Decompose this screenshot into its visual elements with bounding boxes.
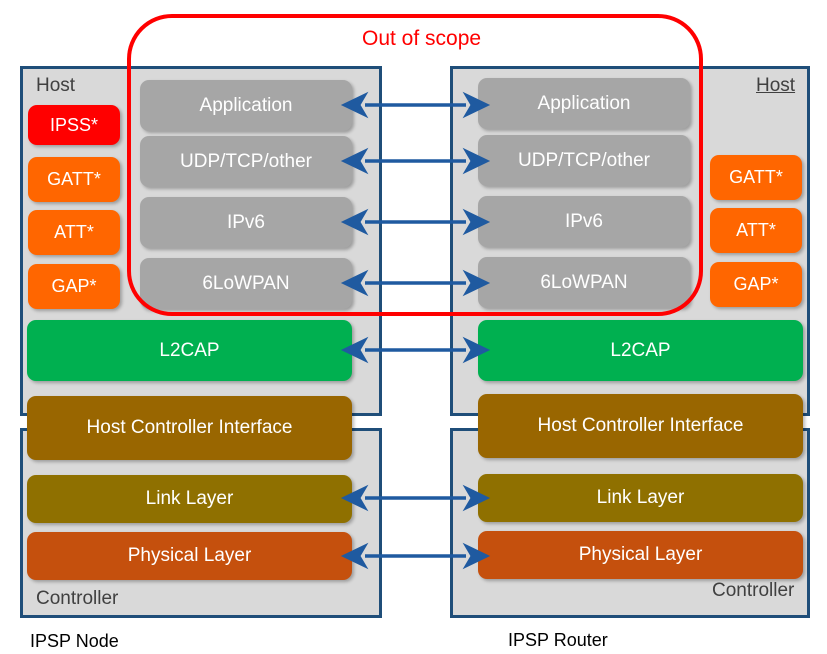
left-profile-ipss[interactable]: IPSS* — [28, 105, 120, 145]
left-layer-ipv6[interactable]: IPv6 — [140, 197, 352, 248]
right-controller-label: Controller — [712, 580, 794, 602]
right-layer-physical-label: Physical Layer — [579, 544, 703, 566]
left-profile-att[interactable]: ATT* — [28, 210, 120, 255]
right-system-caption: IPSP Router — [508, 630, 608, 651]
right-layer-transport-label: UDP/TCP/other — [518, 150, 650, 172]
right-layer-6lowpan-label: 6LoWPAN — [540, 272, 627, 294]
left-layer-hci[interactable]: Host Controller Interface — [27, 396, 352, 460]
right-layer-ipv6[interactable]: IPv6 — [478, 196, 690, 247]
left-layer-application[interactable]: Application — [140, 80, 352, 131]
left-layer-link[interactable]: Link Layer — [27, 475, 352, 523]
right-layer-transport[interactable]: UDP/TCP/other — [478, 135, 690, 186]
left-host-label: Host — [36, 75, 75, 97]
left-profile-gap[interactable]: GAP* — [28, 264, 120, 309]
right-layer-link-label: Link Layer — [597, 487, 685, 509]
left-layer-l2cap[interactable]: L2CAP — [27, 320, 352, 381]
left-profile-gap-label: GAP* — [51, 276, 96, 297]
right-layer-link[interactable]: Link Layer — [478, 474, 803, 522]
left-layer-link-label: Link Layer — [146, 488, 234, 510]
left-layer-ipv6-label: IPv6 — [227, 212, 265, 234]
left-profile-gatt-label: GATT* — [47, 169, 101, 190]
left-layer-transport[interactable]: UDP/TCP/other — [140, 136, 352, 187]
right-profile-gatt-label: GATT* — [729, 167, 783, 188]
diagram-canvas: Host Controller IPSS* GATT* ATT* GAP* Ap… — [0, 0, 827, 654]
left-layer-application-label: Application — [200, 95, 293, 117]
right-layer-physical[interactable]: Physical Layer — [478, 531, 803, 579]
right-layer-ipv6-label: IPv6 — [565, 211, 603, 233]
left-layer-l2cap-label: L2CAP — [159, 340, 219, 362]
left-profile-att-label: ATT* — [54, 222, 94, 243]
right-layer-application-label: Application — [538, 93, 631, 115]
right-profile-att-label: ATT* — [736, 220, 776, 241]
right-layer-application[interactable]: Application — [478, 78, 690, 129]
right-layer-l2cap-label: L2CAP — [610, 340, 670, 362]
left-layer-hci-label: Host Controller Interface — [87, 417, 293, 439]
left-layer-6lowpan[interactable]: 6LoWPAN — [140, 258, 352, 309]
right-host-label: Host — [756, 75, 795, 97]
left-layer-6lowpan-label: 6LoWPAN — [202, 273, 289, 295]
right-profile-gap[interactable]: GAP* — [710, 262, 802, 307]
left-system-caption: IPSP Node — [30, 631, 119, 652]
right-layer-6lowpan[interactable]: 6LoWPAN — [478, 257, 690, 308]
left-layer-transport-label: UDP/TCP/other — [180, 151, 312, 173]
left-controller-label: Controller — [36, 588, 118, 610]
right-profile-att[interactable]: ATT* — [710, 208, 802, 253]
right-profile-gatt[interactable]: GATT* — [710, 155, 802, 200]
right-profile-gap-label: GAP* — [733, 274, 778, 295]
left-layer-physical-label: Physical Layer — [128, 545, 252, 567]
left-layer-physical[interactable]: Physical Layer — [27, 532, 352, 580]
out-of-scope-label: Out of scope — [362, 27, 481, 51]
right-layer-hci-label: Host Controller Interface — [538, 415, 744, 437]
left-profile-ipss-label: IPSS* — [50, 115, 98, 136]
right-layer-hci[interactable]: Host Controller Interface — [478, 394, 803, 458]
left-profile-gatt[interactable]: GATT* — [28, 157, 120, 202]
right-layer-l2cap[interactable]: L2CAP — [478, 320, 803, 381]
